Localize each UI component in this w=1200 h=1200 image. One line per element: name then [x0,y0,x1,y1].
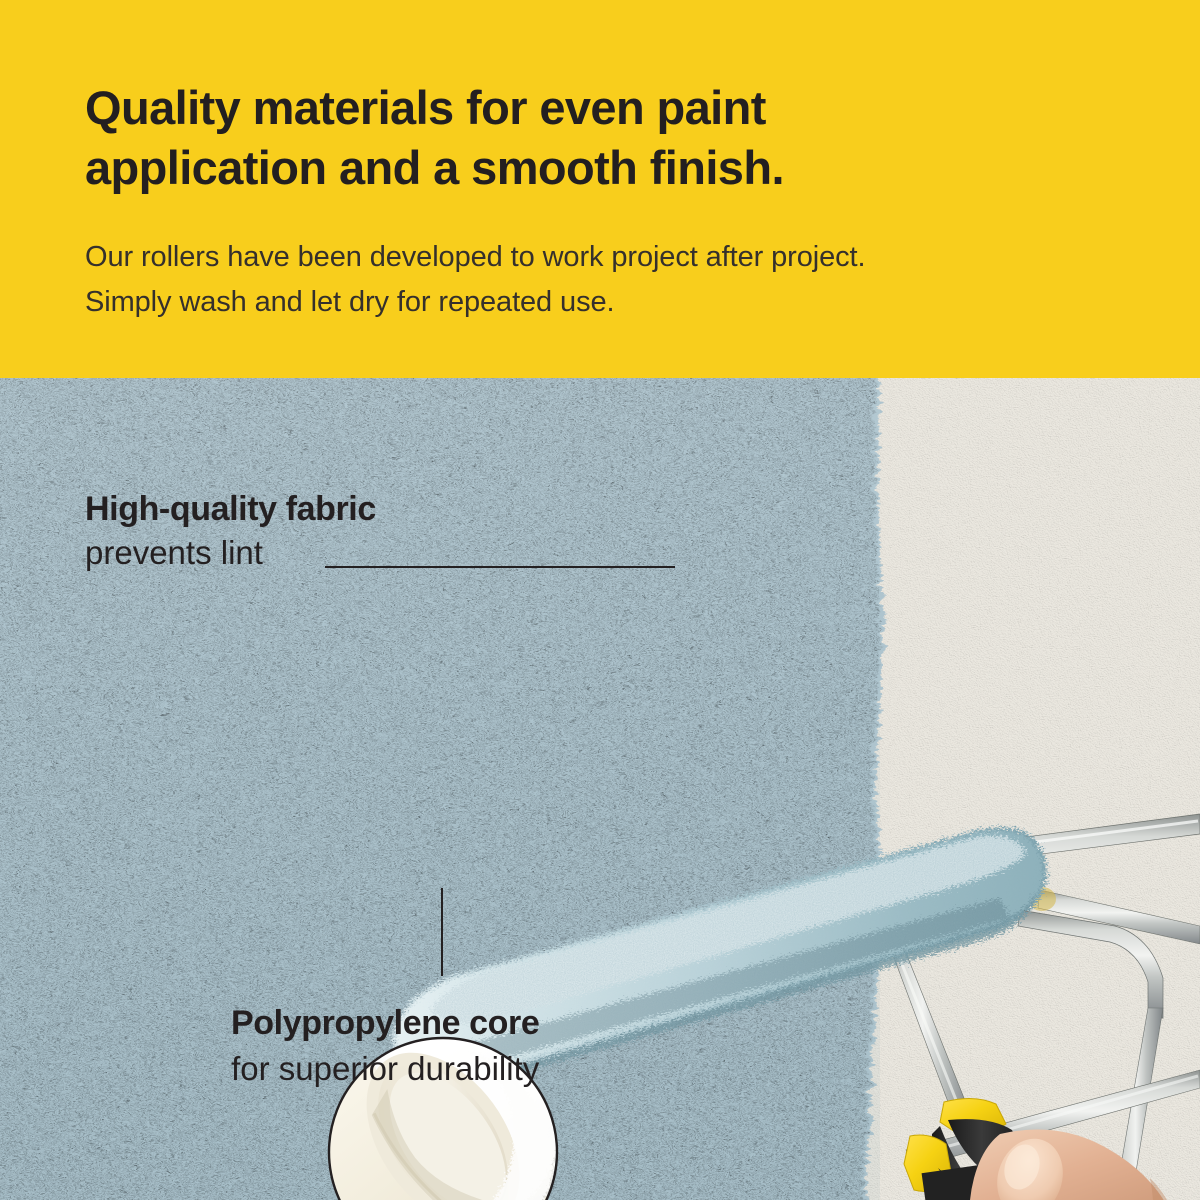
callout-polypropylene-core: Polypropylene core for superior durabili… [231,1000,539,1092]
callout-core-subtitle: for superior durability [231,1046,539,1092]
page-subtitle: Our rollers have been developed to work … [85,235,1125,325]
product-feature-graphic: High-quality fabric prevents lint Polypr… [0,0,1200,1200]
header-banner: Quality materials for even paint applica… [0,0,1200,378]
leader-line-core [441,888,443,976]
callout-fabric-subtitle: prevents lint [85,531,376,575]
callout-fabric-title: High-quality fabric [85,487,376,531]
leader-line-fabric [325,566,675,568]
callout-core-title: Polypropylene core [231,1000,539,1046]
page-title: Quality materials for even paint applica… [85,78,1085,198]
callout-high-quality-fabric: High-quality fabric prevents lint [85,487,376,575]
